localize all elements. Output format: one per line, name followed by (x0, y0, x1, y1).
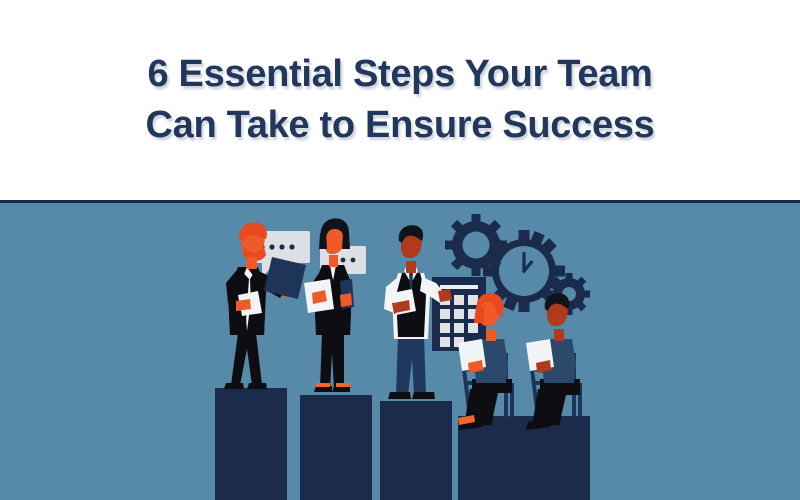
podium-step-4 (458, 416, 590, 500)
illustration-svg (0, 203, 800, 500)
title-block: 6 Essential Steps Your Team Can Take to … (0, 0, 800, 200)
page-title-line-2: Can Take to Ensure Success (146, 100, 655, 151)
page-title-line-1: 6 Essential Steps Your Team (147, 49, 652, 100)
podium-step-2 (300, 395, 372, 500)
podium-step-1 (215, 388, 287, 500)
poster-canvas: 6 Essential Steps Your Team Can Take to … (0, 0, 800, 500)
podium-step-3 (380, 401, 452, 500)
business-team-steps-illustration (0, 200, 800, 500)
